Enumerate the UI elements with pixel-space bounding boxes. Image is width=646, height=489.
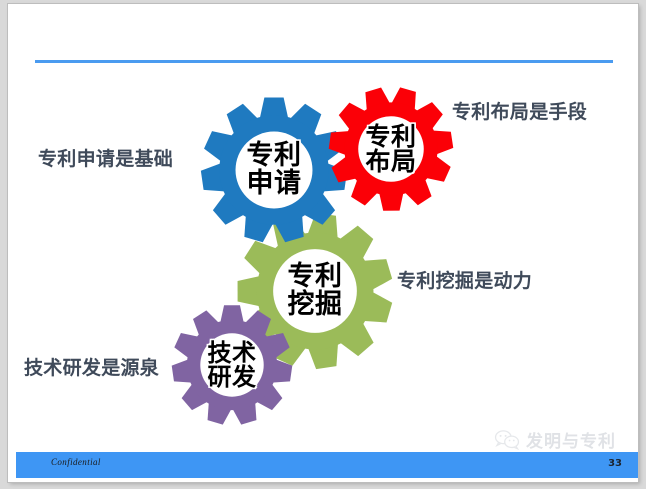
caption-patent-mining: 专利挖掘是动力	[397, 266, 532, 293]
slide-root: 专利 申请 专利 布局	[0, 0, 646, 489]
gear-shape-icon	[171, 304, 293, 426]
slide-canvas: 专利 申请 专利 布局	[8, 4, 638, 482]
gear-patent-application[interactable]: 专利 申请	[200, 96, 348, 244]
gear-patent-layout[interactable]: 专利 布局	[328, 86, 454, 212]
page-number: 33	[608, 458, 622, 469]
gear-shape-icon	[200, 96, 348, 244]
confidential-label: Confidential	[51, 457, 101, 467]
gear-shape-icon	[328, 86, 454, 212]
watermark: 发明与专利	[494, 427, 616, 452]
watermark-label: 发明与专利	[526, 427, 616, 452]
wechat-icon	[494, 429, 520, 451]
footer-bar: Confidential 33	[16, 452, 638, 478]
caption-technology-rd: 技术研发是源泉	[24, 353, 159, 380]
caption-patent-application: 专利申请是基础	[38, 144, 173, 171]
caption-patent-layout: 专利布局是手段	[452, 97, 587, 124]
gear-technology-rd[interactable]: 技术 研发	[171, 304, 293, 426]
header-accent-rule	[35, 60, 613, 63]
